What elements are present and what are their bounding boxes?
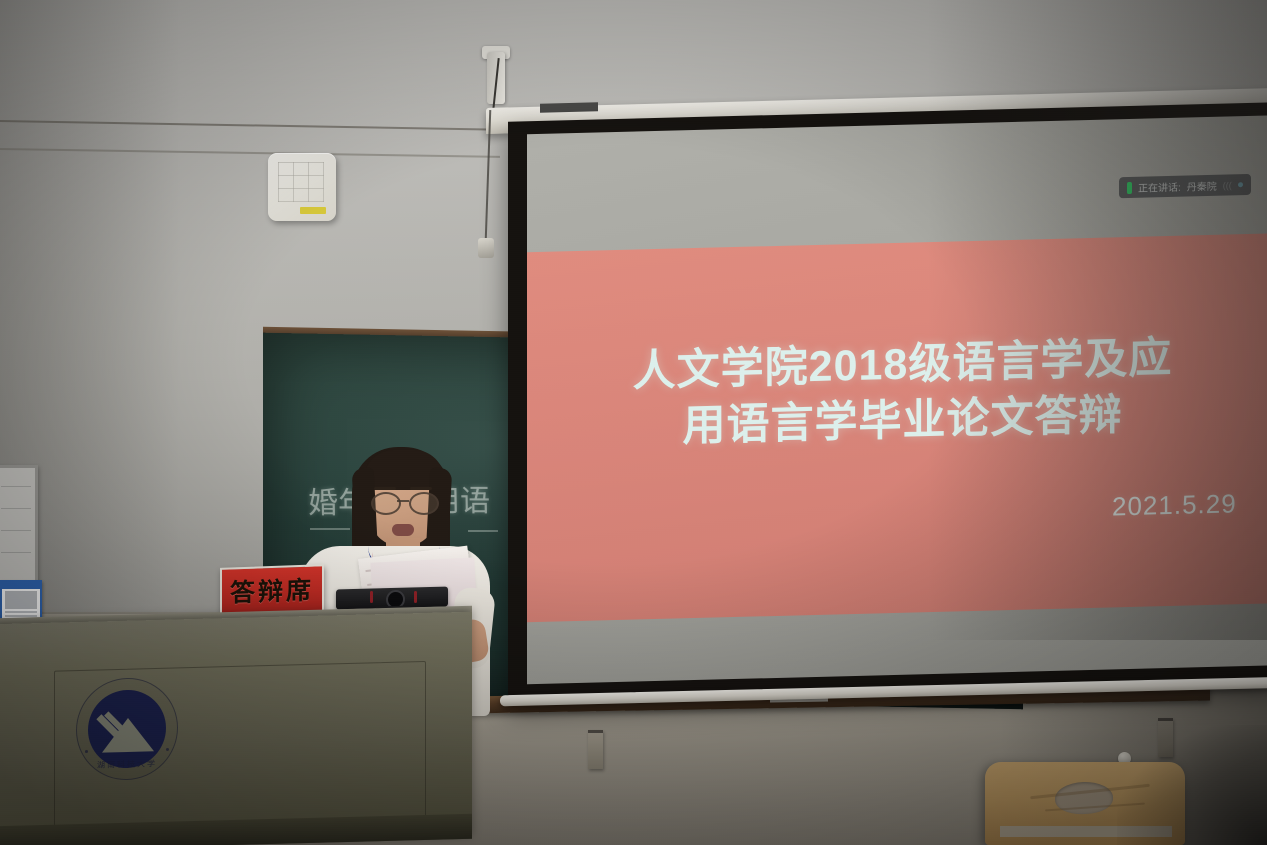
panel-grid — [278, 162, 324, 202]
placard-text: 答辩席 — [230, 571, 314, 610]
screen-housing-label — [540, 102, 598, 112]
emblem-badge — [88, 689, 166, 769]
notice-frame — [0, 465, 38, 585]
eyeglasses — [370, 492, 438, 512]
wall-shadow-right — [927, 0, 1267, 640]
classroom-photo: 婚年 用语 正在讲话: 丹秦院 ((( 人文学院2018级语言学及应 用语言学毕… — [0, 0, 1267, 845]
panel-label-sticker — [300, 207, 326, 214]
wall-clip-left — [588, 730, 603, 769]
university-emblem: 湖南科技大学 — [76, 677, 178, 782]
wall-control-panel[interactable] — [268, 153, 336, 221]
screen-hook-weight — [478, 238, 494, 258]
corner-shadow — [1117, 725, 1267, 845]
defense-seat-placard: 答辩席 — [220, 564, 324, 616]
mountain-peak-icon — [102, 717, 154, 752]
podium — [0, 612, 472, 845]
mouth — [392, 524, 414, 536]
